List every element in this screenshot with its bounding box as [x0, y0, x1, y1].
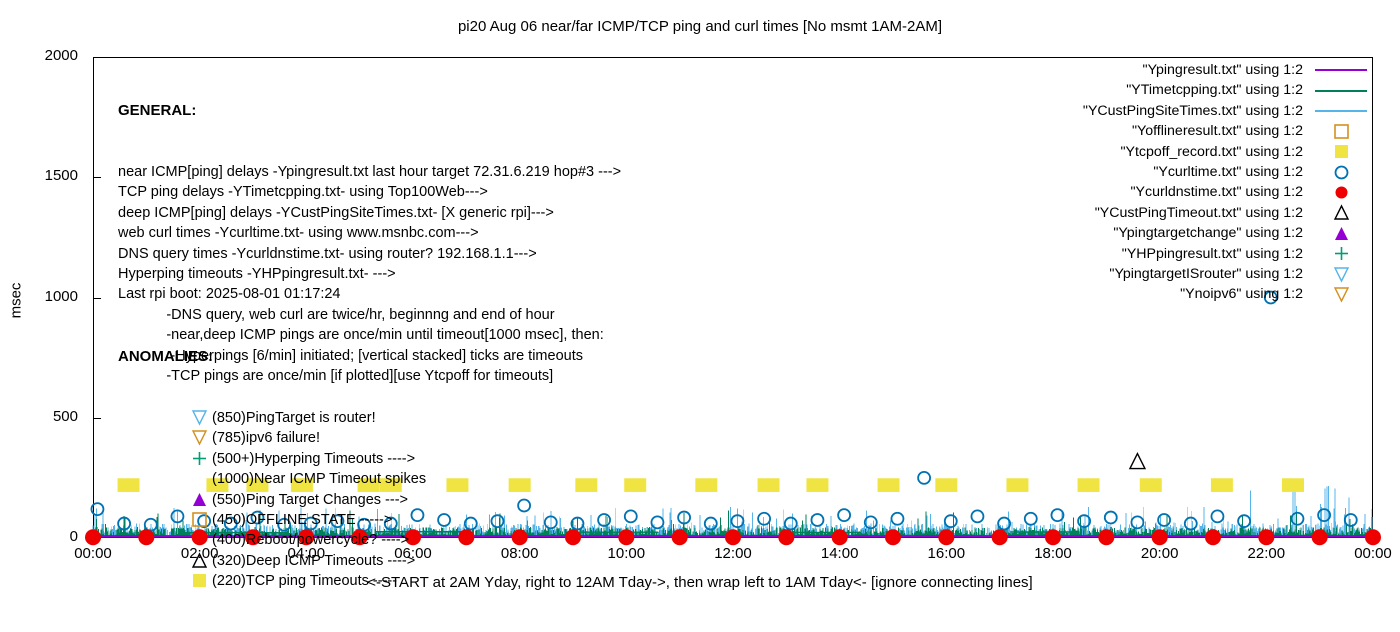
legend-item: "Ytcpoff_record.txt" using 1:2: [1083, 142, 1373, 162]
chart-title: pi20 Aug 06 near/far ICMP/TCP ping and c…: [0, 18, 1400, 35]
x-tick-label: 14:00: [800, 545, 880, 562]
legend-item: "YpingtargetISrouter" using 1:2: [1083, 264, 1373, 284]
legend-label: "Ycurldnstime.txt" using 1:2: [1130, 182, 1303, 202]
legend-item: "Yofflineresult.txt" using 1:2: [1083, 121, 1373, 141]
triangle-up-open-black-icon: [186, 551, 212, 571]
legend-item: "YCustPingSiteTimes.txt" using 1:2: [1083, 101, 1373, 121]
general-line: Hyperping timeouts -YHPpingresult.txt- -…: [118, 264, 621, 284]
legend-item: "YCustPingTimeout.txt" using 1:2: [1083, 203, 1373, 223]
legend-item: "Ypingresult.txt" using 1:2: [1083, 60, 1373, 80]
legend-label: "Ypingtargetchange" using 1:2: [1113, 223, 1303, 243]
legend-item: "Ycurldnstime.txt" using 1:2: [1083, 182, 1373, 202]
y-tick-label: 0: [4, 528, 78, 545]
legend-line-swatch: [1315, 69, 1367, 71]
anomaly-label: (320)Deep ICMP Timeouts ---->: [212, 553, 415, 569]
general-line: Last rpi boot: 2025-08-01 01:17:24: [118, 284, 621, 304]
legend: "Ypingresult.txt" using 1:2"YTimetcpping…: [1083, 60, 1373, 305]
legend-item: "Ynoipv6" using 1:2: [1083, 284, 1373, 304]
triangle-up-open-icon: [1309, 203, 1373, 223]
triangle-up-filled-icon: [1309, 223, 1373, 243]
circle-filled-icon: [1309, 183, 1373, 203]
x-tick-label: 20:00: [1120, 545, 1200, 562]
anomaly-row: (850)PingTarget is router!: [118, 408, 426, 428]
anomaly-label: (400)Reboot/powercycle? ---->: [212, 532, 409, 548]
anomaly-row: (450)OFFLINE STATE ----->: [118, 510, 426, 530]
legend-item: "Ypingtargetchange" using 1:2: [1083, 223, 1373, 243]
square-open-orange-icon: [186, 510, 212, 530]
anomalies-header: ANOMALIES:: [118, 347, 426, 367]
line-icon: [1309, 81, 1373, 101]
legend-label: "YCustPingSiteTimes.txt" using 1:2: [1083, 101, 1303, 121]
anomaly-row: (1000)Near ICMP Timeout spikes: [118, 469, 426, 489]
legend-line-swatch: [1315, 90, 1367, 92]
triangle-down-open-icon: [1309, 264, 1373, 284]
anomaly-label: (850)PingTarget is router!: [212, 410, 376, 426]
chart-page: pi20 Aug 06 near/far ICMP/TCP ping and c…: [0, 0, 1400, 600]
triangle-up-filled-purple-icon: [186, 490, 212, 510]
x-tick-label: 10:00: [586, 545, 666, 562]
general-line: near ICMP[ping] delays -Ypingresult.txt …: [118, 162, 621, 182]
anomaly-label: (1000)Near ICMP Timeout spikes: [212, 471, 426, 487]
square-open-icon: [1309, 121, 1373, 141]
y-tick-label: 2000: [4, 47, 78, 64]
anomaly-label: (785)ipv6 failure!: [212, 430, 320, 446]
legend-label: "YCustPingTimeout.txt" using 1:2: [1095, 203, 1303, 223]
anomaly-row: (785)ipv6 failure!: [118, 428, 426, 448]
legend-item: "Ycurltime.txt" using 1:2: [1083, 162, 1373, 182]
line-icon: [1309, 101, 1373, 121]
plus-icon: [1309, 244, 1373, 264]
anomaly-label: (450)OFFLINE STATE ----->: [212, 512, 392, 528]
x-tick-label: 08:00: [480, 545, 560, 562]
triangle-down-open-lightblue-icon: [186, 408, 212, 428]
legend-label: "Ypingresult.txt" using 1:2: [1143, 60, 1303, 80]
legend-label: "YHPpingresult.txt" using 1:2: [1122, 244, 1303, 264]
x-axis-caption: <-START at 2AM Yday, right to 12AM Tday-…: [0, 574, 1400, 591]
legend-item: "YTimetcpping.txt" using 1:2: [1083, 80, 1373, 100]
legend-label: "YpingtargetISrouter" using 1:2: [1109, 264, 1303, 284]
circle-open-icon: [1309, 162, 1373, 182]
anomaly-label: (500+)Hyperping Timeouts ---->: [212, 451, 415, 467]
x-tick-label: 12:00: [693, 545, 773, 562]
anomaly-row: (500+)Hyperping Timeouts ---->: [118, 449, 426, 469]
x-tick-label: 16:00: [906, 545, 986, 562]
general-line: TCP ping delays -YTimetcpping.txt- using…: [118, 182, 621, 202]
y-tick-label: 1500: [4, 167, 78, 184]
anomaly-label: (550)Ping Target Changes --->: [212, 492, 408, 508]
y-tick-label: 500: [4, 408, 78, 425]
legend-label: "Ycurltime.txt" using 1:2: [1153, 162, 1303, 182]
y-tick-label: 1000: [4, 288, 78, 305]
square-filled-icon: [1309, 142, 1373, 162]
triangle-down-open-icon: [1309, 284, 1373, 304]
general-line: deep ICMP[ping] delays -YCustPingSiteTim…: [118, 203, 621, 223]
general-line: DNS query times -Ycurldnstime.txt- using…: [118, 244, 621, 264]
anomaly-row: (400)Reboot/powercycle? ---->: [118, 530, 426, 550]
legend-item: "YHPpingresult.txt" using 1:2: [1083, 244, 1373, 264]
plus-teal-icon: [186, 449, 212, 469]
anomaly-row: (550)Ping Target Changes --->: [118, 490, 426, 510]
legend-label: "Yofflineresult.txt" using 1:2: [1132, 121, 1303, 141]
x-tick-label: 18:00: [1013, 545, 1093, 562]
x-tick-label: 22:00: [1226, 545, 1306, 562]
general-line: web curl times -Ycurltime.txt- using www…: [118, 223, 621, 243]
legend-line-swatch: [1315, 110, 1367, 112]
triangle-down-open-orange-icon: [186, 428, 212, 448]
anomaly-row: (320)Deep ICMP Timeouts ---->: [118, 551, 426, 571]
legend-label: "Ynoipv6" using 1:2: [1180, 284, 1303, 304]
anomaly-rows: (850)PingTarget is router!(785)ipv6 fail…: [118, 408, 426, 592]
legend-label: "Ytcpoff_record.txt" using 1:2: [1120, 142, 1303, 162]
legend-label: "YTimetcpping.txt" using 1:2: [1126, 80, 1303, 100]
general-header: GENERAL:: [118, 101, 621, 121]
x-tick-label: 00:00: [1333, 545, 1400, 562]
line-icon: [1309, 60, 1373, 80]
